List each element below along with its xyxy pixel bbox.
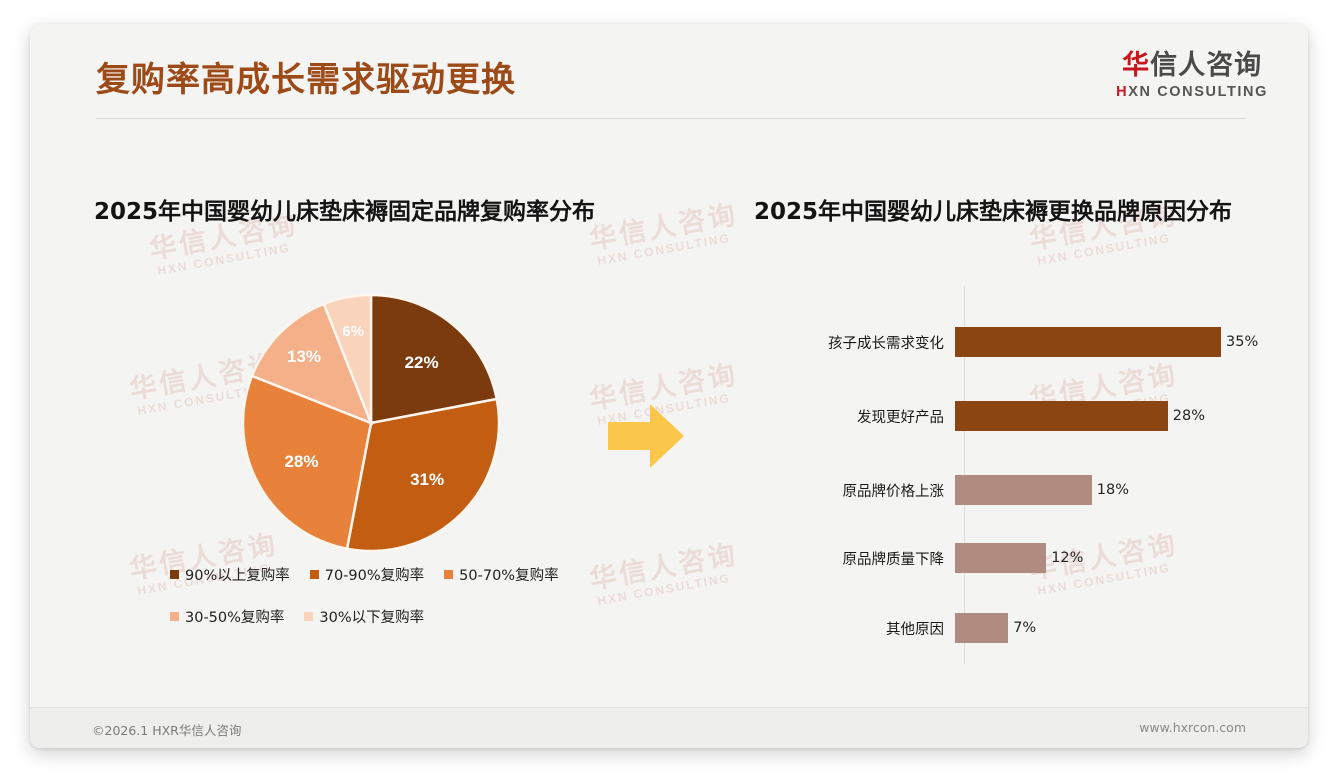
legend-swatch	[310, 570, 319, 579]
watermark-en: HXN CONSULTING	[597, 570, 743, 607]
bar-category-label: 原品牌质量下降	[754, 548, 954, 569]
bar-fill	[955, 401, 1168, 431]
bar-row[interactable]: 其他原因7%	[754, 610, 1294, 646]
logo-en-highlight: H	[1116, 84, 1128, 100]
bar-fill	[955, 327, 1221, 357]
title-divider	[96, 118, 1246, 119]
legend-item-label: 50-70%复购率	[459, 564, 558, 585]
legend-item[interactable]: 90%以上复购率	[170, 564, 290, 585]
bar-category-label: 其他原因	[754, 618, 954, 639]
arrow-right-svg	[608, 402, 684, 470]
watermark-cn: 华信人咨询	[588, 201, 740, 254]
left-chart-title: 2025年中国婴幼儿床垫床褥固定品牌复购率分布	[94, 192, 595, 226]
legend-item-label: 90%以上复购率	[185, 564, 290, 585]
legend-swatch	[170, 612, 179, 621]
repurchase-rate-pie-chart: 22%31%28%13%6%	[240, 292, 502, 554]
pie-slice-label: 13%	[287, 347, 321, 366]
bar-row[interactable]: 原品牌质量下降12%	[754, 540, 1294, 576]
legend-swatch	[444, 570, 453, 579]
logo-cn-highlight: 华	[1122, 50, 1150, 81]
bar-row[interactable]: 孩子成长需求变化35%	[754, 324, 1294, 360]
company-logo: 华信人咨询 HXN CONSULTING	[1116, 52, 1268, 100]
bar-value-label: 7%	[1013, 620, 1036, 636]
pie-legend: 90%以上复购率70-90%复购率50-70%复购率 30-50%复购率30%以…	[170, 564, 610, 648]
switch-reason-bar-chart: 孩子成长需求变化35%发现更好产品28%原品牌价格上涨18%原品牌质量下降12%…	[754, 286, 1294, 666]
pie-slice-label: 22%	[405, 353, 439, 372]
watermark-en: HXN CONSULTING	[597, 230, 743, 267]
slide-header: 复购率高成长需求驱动更换 华信人咨询 HXN CONSULTING	[30, 24, 1308, 124]
bar-fill	[955, 543, 1046, 573]
arrow-right-icon	[608, 402, 684, 475]
logo-cn-rest: 信人咨询	[1150, 50, 1262, 81]
website-url: www.hxrcon.com	[1139, 720, 1246, 735]
bar-value-label: 12%	[1051, 550, 1083, 566]
watermark-cn: 华信人咨询	[588, 541, 740, 594]
bar-value-label: 18%	[1097, 482, 1129, 498]
legend-swatch	[304, 612, 313, 621]
bar-row[interactable]: 原品牌价格上涨18%	[754, 472, 1294, 508]
legend-item-label: 70-90%复购率	[325, 564, 424, 585]
bar-fill	[955, 475, 1092, 505]
watermark: 华信人咨询 HXN CONSULTING	[588, 201, 743, 267]
legend-row: 30-50%复购率30%以下复购率	[170, 606, 610, 627]
slide-canvas: 华信人咨询 HXN CONSULTING 华信人咨询 HXN CONSULTIN…	[30, 24, 1308, 748]
legend-swatch	[170, 570, 179, 579]
pie-slice-label: 31%	[410, 470, 444, 489]
legend-item[interactable]: 70-90%复购率	[310, 564, 424, 585]
legend-item[interactable]: 50-70%复购率	[444, 564, 558, 585]
logo-cn-text: 华信人咨询	[1116, 52, 1268, 79]
watermark-en: HXN CONSULTING	[157, 240, 303, 277]
logo-en-text: HXN CONSULTING	[1116, 85, 1268, 100]
bar-category-label: 发现更好产品	[754, 406, 954, 427]
bar-row[interactable]: 发现更好产品28%	[754, 398, 1294, 434]
legend-item-label: 30%以下复购率	[319, 606, 424, 627]
logo-en-rest: XN CONSULTING	[1128, 84, 1268, 100]
pie-slice-label: 28%	[284, 452, 318, 471]
bar-fill	[955, 613, 1008, 643]
pie-slice-label: 6%	[342, 323, 364, 340]
bar-category-label: 原品牌价格上涨	[754, 480, 954, 501]
watermark: 华信人咨询 HXN CONSULTING	[588, 541, 743, 607]
legend-item-label: 30-50%复购率	[185, 606, 284, 627]
slide-footer: ©2026.1 HXR华信人咨询 www.hxrcon.com	[30, 707, 1308, 748]
watermark-en: HXN CONSULTING	[1037, 230, 1183, 267]
page-title: 复购率高成长需求驱动更换	[96, 52, 516, 101]
legend-item[interactable]: 30-50%复购率	[170, 606, 284, 627]
right-chart-title: 2025年中国婴幼儿床垫床褥更换品牌原因分布	[754, 192, 1232, 226]
bar-value-label: 35%	[1226, 334, 1258, 350]
copyright-text: ©2026.1 HXR华信人咨询	[92, 720, 241, 739]
arrow-shape	[608, 404, 684, 468]
legend-row: 90%以上复购率70-90%复购率50-70%复购率	[170, 564, 610, 585]
legend-item[interactable]: 30%以下复购率	[304, 606, 424, 627]
pie-svg: 22%31%28%13%6%	[240, 292, 502, 554]
bar-category-label: 孩子成长需求变化	[754, 332, 954, 353]
bar-value-label: 28%	[1173, 408, 1205, 424]
